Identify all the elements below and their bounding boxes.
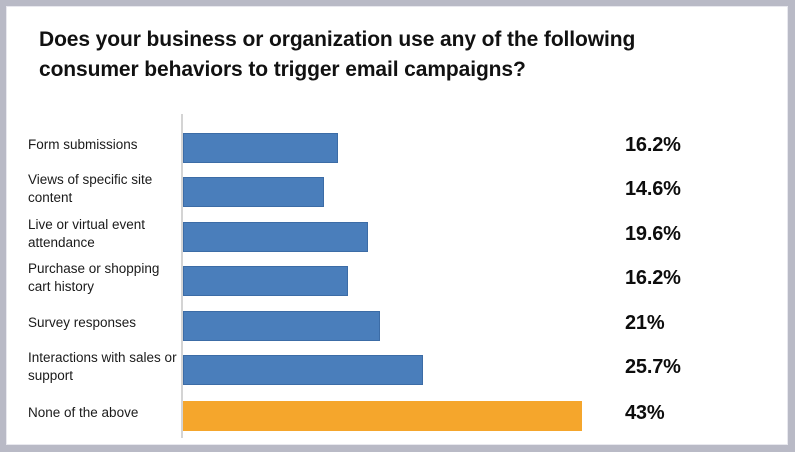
bar-value-label: 16.2%	[625, 134, 681, 157]
bar-row: Live or virtual event attendance19.6%	[7, 218, 788, 263]
bar-value-label: 19.6%	[625, 223, 681, 246]
bar-category-label: Survey responses	[28, 314, 180, 332]
bar-value-label: 21%	[625, 312, 664, 335]
bar-fill	[183, 133, 338, 163]
bar-fill	[183, 266, 348, 296]
bar-fill	[183, 355, 423, 385]
bar-row: Survey responses21%	[7, 307, 788, 352]
bar-value-label: 14.6%	[625, 178, 681, 201]
bar-track	[183, 401, 582, 431]
bar-row: Form submissions16.2%	[7, 129, 788, 174]
bar-fill	[183, 222, 368, 252]
bar-value-label: 25.7%	[625, 356, 681, 379]
bar-row: Purchase or shopping cart history16.2%	[7, 262, 788, 307]
bar-track	[183, 133, 338, 163]
bar-fill	[183, 177, 324, 207]
slide-frame: Does your business or organization use a…	[0, 0, 795, 452]
slide-card: Does your business or organization use a…	[6, 6, 788, 445]
bar-track	[183, 355, 423, 385]
bar-track	[183, 177, 324, 207]
bar-track	[183, 222, 368, 252]
bar-category-label: Live or virtual event attendance	[28, 216, 180, 252]
bar-category-label: Purchase or shopping cart history	[28, 260, 180, 296]
bar-row: Interactions with sales or support25.7%	[7, 351, 788, 396]
bar-category-label: Views of specific site content	[28, 171, 180, 207]
bar-value-label: 16.2%	[625, 267, 681, 290]
bar-row: None of the above43%	[7, 397, 788, 442]
bar-chart-plot-area: Form submissions16.2%Views of specific s…	[7, 7, 787, 444]
bar-value-label: 43%	[625, 402, 664, 425]
bar-category-label: None of the above	[28, 404, 180, 422]
bar-category-label: Form submissions	[28, 136, 180, 154]
bar-row: Views of specific site content14.6%	[7, 173, 788, 218]
bar-track	[183, 311, 380, 341]
bar-fill	[183, 311, 380, 341]
bar-track	[183, 266, 348, 296]
bar-fill	[183, 401, 582, 431]
bar-category-label: Interactions with sales or support	[28, 349, 180, 385]
